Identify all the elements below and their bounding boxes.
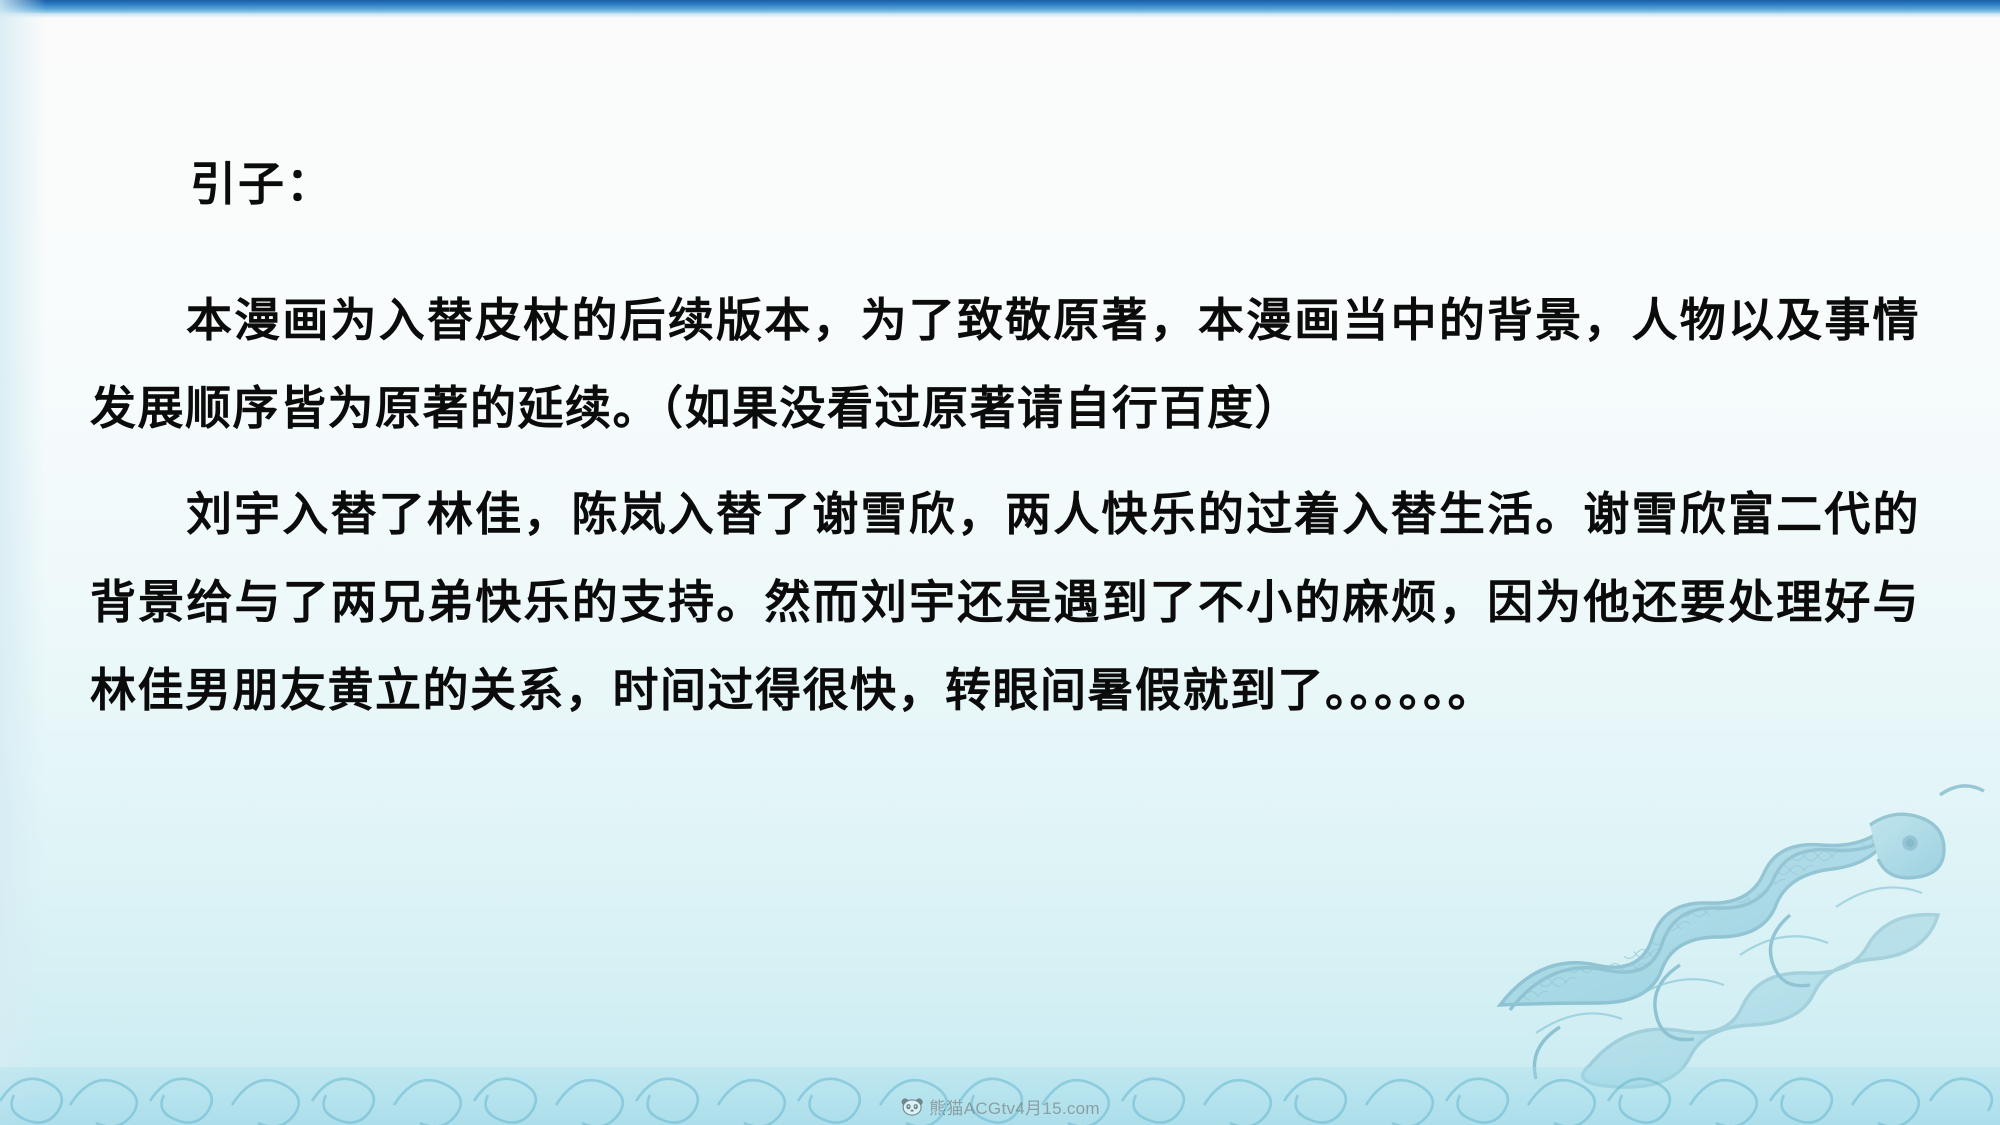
page-title: 引子： bbox=[190, 148, 334, 214]
panda-icon bbox=[900, 1097, 924, 1116]
watermark-text: 熊猫ACGtv4月15.com bbox=[929, 1094, 1100, 1119]
paragraph-2: 刘宇入替了林佳，陈岚入替了谢雪欣，两人快乐的过着入替生活。谢雪欣富二代的背景给与… bbox=[90, 470, 1920, 734]
top-accent-bar bbox=[0, 0, 2000, 13]
left-edge-gradient bbox=[0, 0, 46, 1125]
top-accent-bar-highlight bbox=[0, 13, 2000, 18]
watermark: 熊猫ACGtv4月15.com bbox=[900, 1094, 1100, 1119]
paragraph-1: 本漫画为入替皮杖的后续版本，为了致敬原著，本漫画当中的背景，人物以及事情发展顺序… bbox=[90, 276, 1920, 452]
dragon-ornament bbox=[1440, 765, 2000, 1095]
slide-canvas: 引子： 本漫画为入替皮杖的后续版本，为了致敬原著，本漫画当中的背景，人物以及事情… bbox=[0, 0, 2000, 1125]
